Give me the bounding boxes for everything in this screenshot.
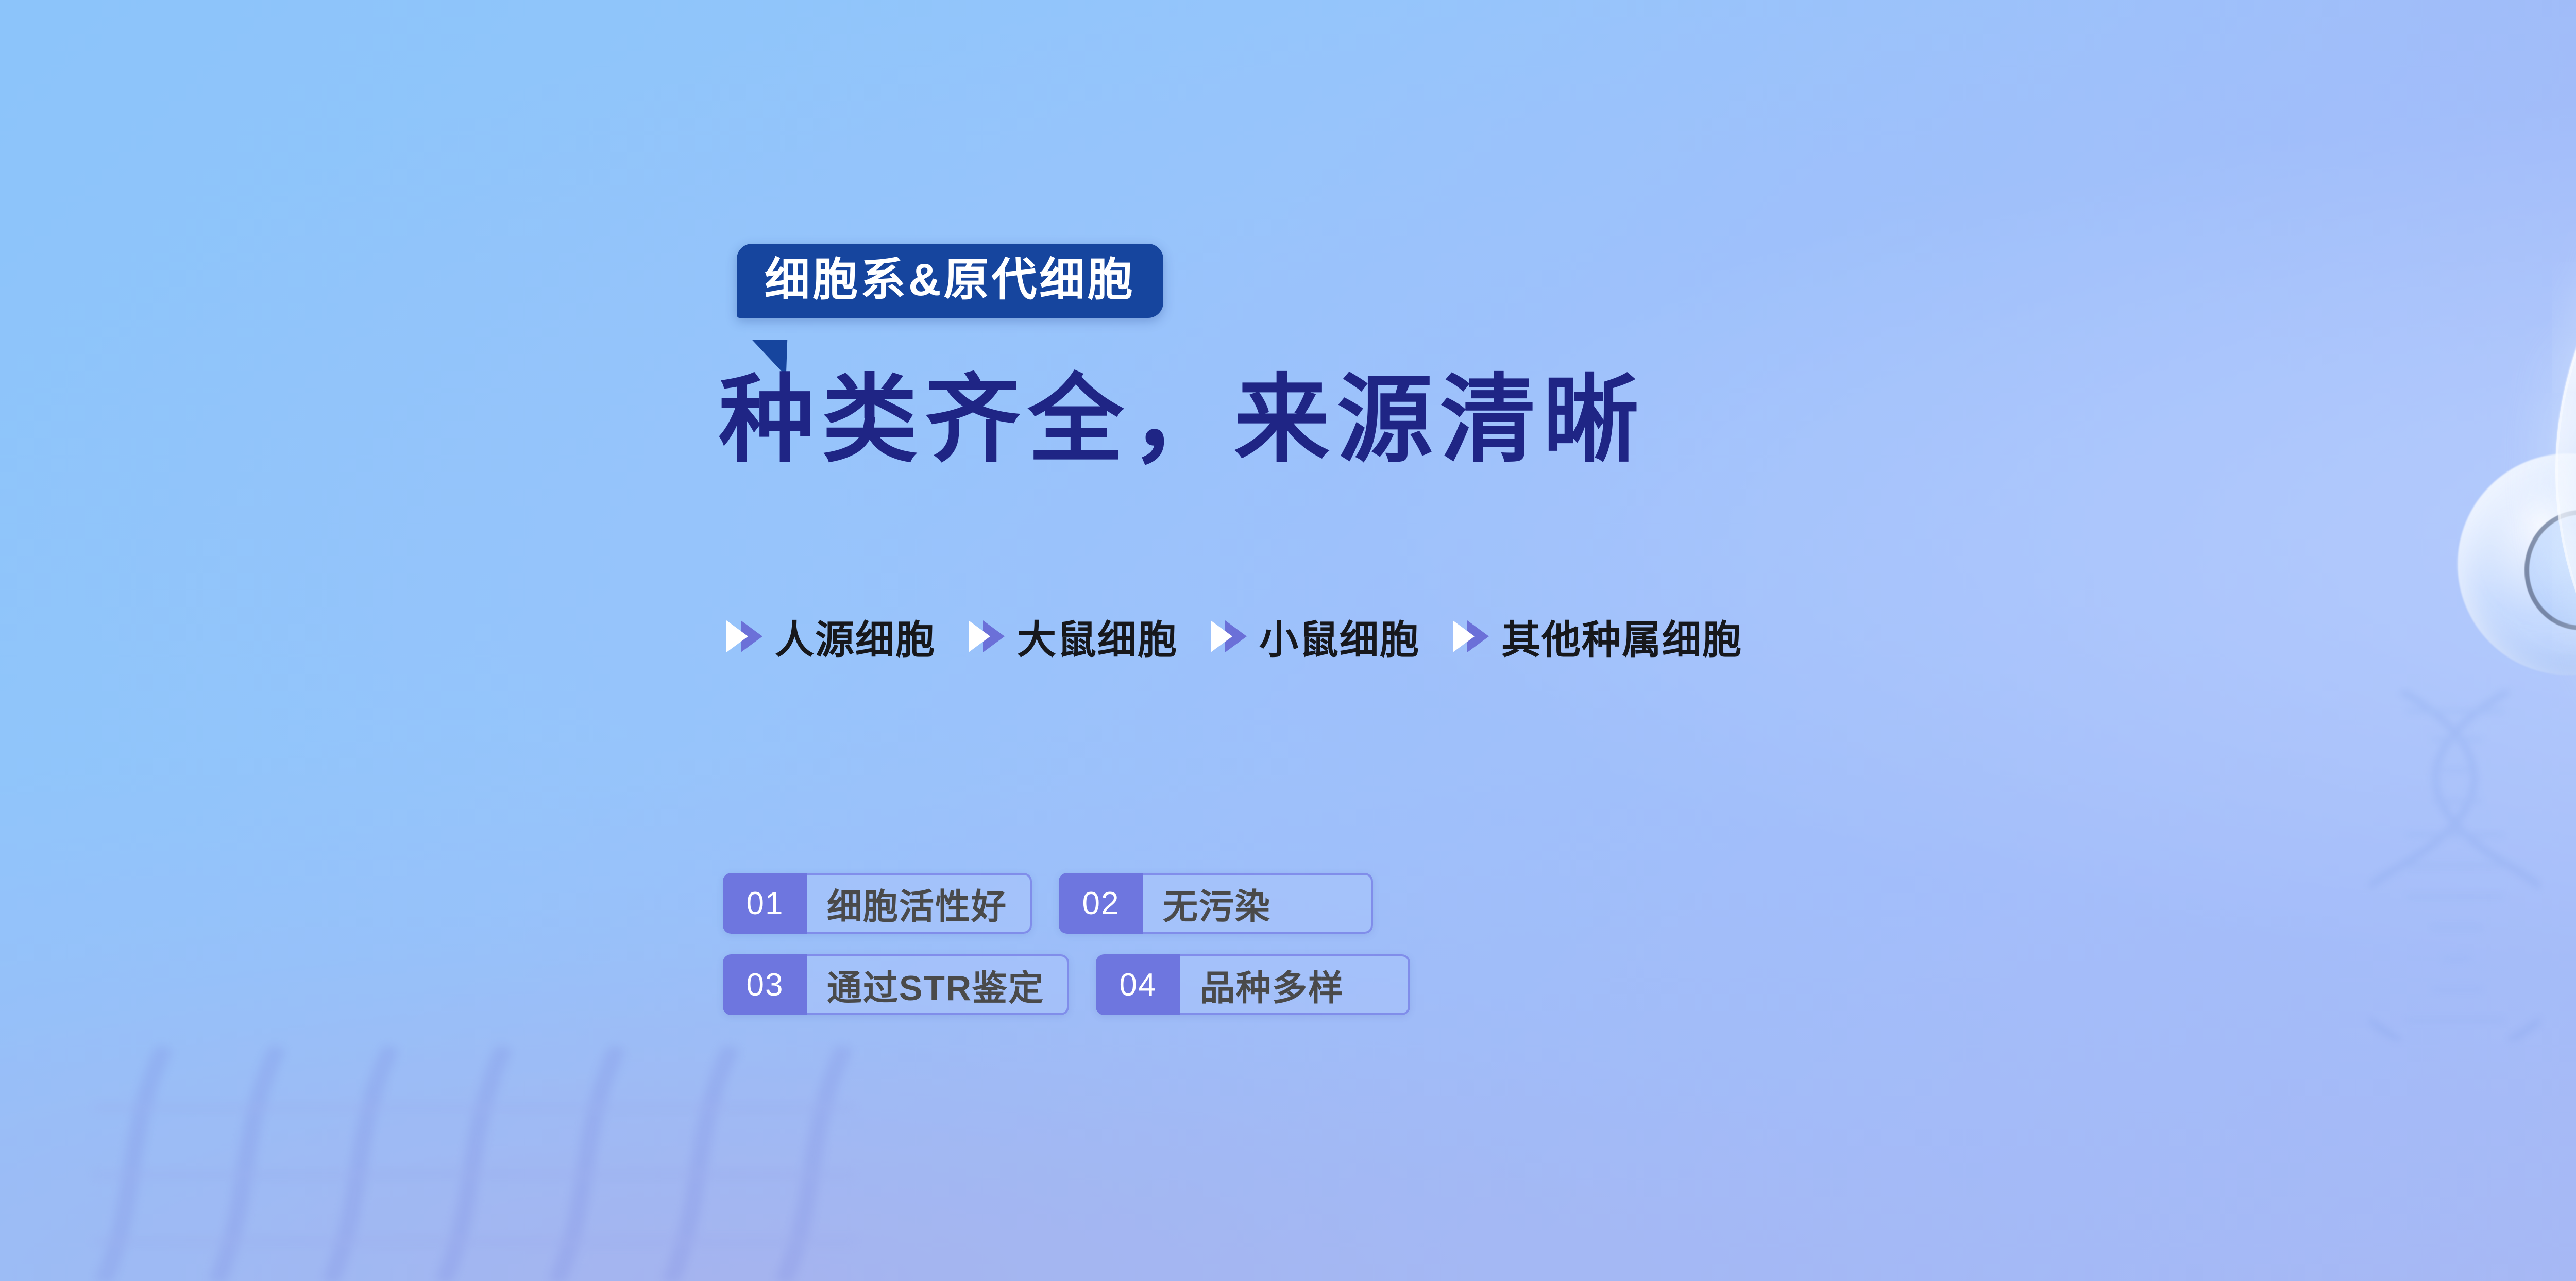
feature-card-body: 通过STR鉴定: [807, 954, 1069, 1015]
double-chevron-icon: [1452, 617, 1494, 655]
cell-products-hero-banner: 细胞系&原代细胞 种类齐全，来源清晰 人源细胞 大鼠细胞 小: [0, 0, 2576, 1281]
list-item-label: 其他种属细胞: [1501, 608, 1742, 665]
feature-row: 03 通过STR鉴定 04 品种多样: [723, 954, 1454, 1015]
feature-grid: 01 细胞活性好 02 无污染 03 通过STR鉴定: [723, 873, 1454, 1036]
feature-row: 01 细胞活性好 02 无污染: [723, 873, 1454, 934]
double-chevron-icon: [1210, 617, 1252, 655]
feature-number-badge: 04: [1096, 954, 1180, 1015]
main-cell: [2555, 93, 2576, 845]
feature-label: 细胞活性好: [827, 878, 1007, 929]
double-chevron-icon: [968, 617, 1010, 655]
main-cell-membrane: [2555, 93, 2576, 850]
list-item-label: 大鼠细胞: [1017, 608, 1178, 665]
list-item-label: 人源细胞: [775, 608, 936, 665]
double-chevron-icon: [725, 617, 768, 655]
feature-label: 品种多样: [1200, 959, 1344, 1010]
feature-label: 无污染: [1163, 878, 1271, 929]
feature-number-badge: 03: [723, 954, 807, 1015]
category-badge: 细胞系&原代细胞: [737, 244, 1163, 318]
feature-card-01: 01 细胞活性好: [723, 873, 1032, 934]
list-item: 人源细胞: [725, 608, 936, 665]
list-item: 其他种属细胞: [1452, 608, 1742, 665]
feature-card-body: 无污染: [1143, 873, 1373, 934]
list-item-label: 小鼠细胞: [1259, 608, 1420, 665]
list-item: 大鼠细胞: [968, 608, 1178, 665]
feature-card-03: 03 通过STR鉴定: [723, 954, 1069, 1015]
cell-type-list: 人源细胞 大鼠细胞 小鼠细胞 其他种属细胞: [725, 608, 1774, 665]
feature-card-04: 04 品种多样: [1096, 954, 1410, 1015]
banner-content: 细胞系&原代细胞 种类齐全，来源清晰 人源细胞 大鼠细胞 小: [0, 0, 2524, 1281]
page-title: 种类齐全，来源清晰: [719, 370, 1646, 470]
feature-number-badge: 01: [723, 873, 807, 934]
feature-number-badge: 02: [1059, 873, 1143, 934]
list-item: 小鼠细胞: [1210, 608, 1420, 665]
feature-card-body: 细胞活性好: [807, 873, 1032, 934]
feature-card-body: 品种多样: [1180, 954, 1410, 1015]
budding-cell-nucleus: [2524, 510, 2576, 630]
feature-card-02: 02 无污染: [1059, 873, 1373, 934]
category-badge-label: 细胞系&原代细胞: [765, 257, 1136, 302]
feature-label: 通过STR鉴定: [827, 959, 1044, 1010]
